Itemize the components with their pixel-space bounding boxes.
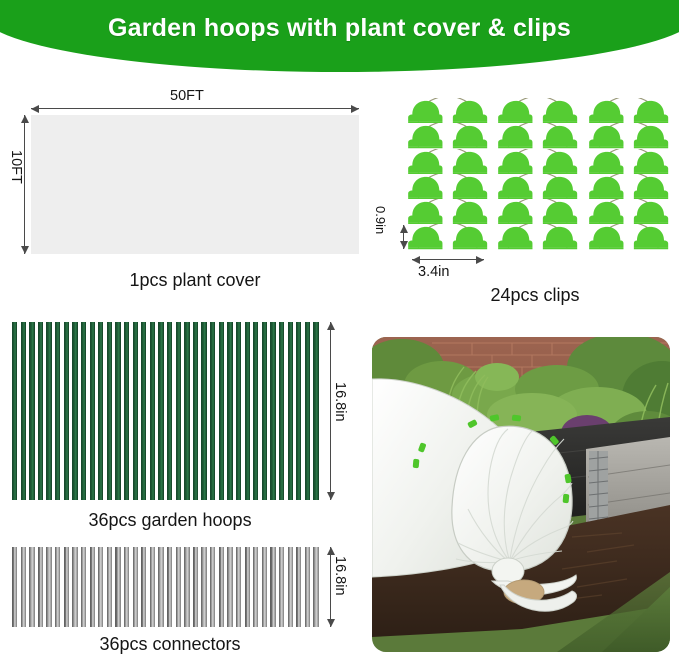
plant-cover-width-arrow-icon — [31, 104, 359, 113]
garden-hoop-rod — [253, 322, 258, 500]
header-banner: Garden hoops with plant cover & clips — [0, 0, 679, 72]
garden-hoop-rod — [150, 322, 155, 500]
product-photo — [372, 337, 670, 652]
connector-rod — [253, 547, 258, 627]
plant-cover-height-arrow-icon — [20, 115, 29, 254]
connector-rod — [219, 547, 224, 627]
garden-hoop-rod — [124, 322, 129, 500]
garden-hoop-rod — [38, 322, 43, 500]
garden-hoop-rod — [90, 322, 95, 500]
product-photo-scene — [372, 337, 670, 652]
connector-rod — [12, 547, 17, 627]
clips-caption: 24pcs clips — [400, 285, 670, 306]
clips-width-label: 3.4in — [418, 264, 449, 280]
connector-rod — [29, 547, 34, 627]
connector-rod — [279, 547, 284, 627]
connector-rod — [270, 547, 275, 627]
clip-item — [585, 224, 672, 249]
garden-hoop-rod — [167, 322, 172, 500]
garden-hoop-rod — [270, 322, 275, 500]
clip-item — [494, 149, 581, 174]
garden-hoop-rod — [29, 322, 34, 500]
connector-rod — [176, 547, 181, 627]
clip-item — [494, 174, 581, 199]
clip-item — [494, 199, 581, 224]
garden-hoop-rod — [184, 322, 189, 500]
connector-rod — [38, 547, 43, 627]
garden-hoop-rod — [55, 322, 60, 500]
clip-item — [585, 199, 672, 224]
garden-hoop-rod — [12, 322, 17, 500]
connectors-bundle — [12, 547, 322, 627]
clips-grid — [404, 98, 672, 250]
connector-rod — [21, 547, 26, 627]
connector-rod — [133, 547, 138, 627]
clip-item — [494, 123, 581, 148]
clip-item — [404, 199, 491, 224]
connector-rod — [107, 547, 112, 627]
garden-hoop-rod — [201, 322, 206, 500]
garden-hoop-rod — [107, 322, 112, 500]
plant-cover-swatch — [31, 115, 359, 254]
garden-hoops-length-label: 16.8in — [332, 382, 348, 422]
connector-rod — [167, 547, 172, 627]
connector-rod — [313, 547, 318, 627]
garden-hoop-rod — [245, 322, 250, 500]
clip-item — [494, 98, 581, 123]
clip-item — [585, 149, 672, 174]
connector-rod — [115, 547, 120, 627]
connector-rod — [296, 547, 301, 627]
connector-rod — [184, 547, 189, 627]
connector-rod — [72, 547, 77, 627]
clips-width-arrow-icon — [412, 255, 484, 264]
plant-cover-caption: 1pcs plant cover — [0, 270, 390, 291]
connector-rod — [210, 547, 215, 627]
connector-rod — [201, 547, 206, 627]
connectors-caption: 36pcs connectors — [0, 634, 340, 655]
garden-hoop-rod — [262, 322, 267, 500]
connector-rod — [90, 547, 95, 627]
connector-rod — [288, 547, 293, 627]
garden-hoop-rod — [296, 322, 301, 500]
garden-hoop-rod — [305, 322, 310, 500]
garden-hoop-rod — [72, 322, 77, 500]
connector-rod — [193, 547, 198, 627]
clip-item — [404, 224, 491, 249]
garden-hoops-bundle — [12, 322, 322, 500]
connector-rod — [236, 547, 241, 627]
clip-item — [585, 174, 672, 199]
connector-rod — [227, 547, 232, 627]
garden-hoop-rod — [227, 322, 232, 500]
connectors-length-label: 16.8in — [332, 556, 348, 596]
garden-hoop-rod — [64, 322, 69, 500]
garden-hoop-rod — [236, 322, 241, 500]
connector-rod — [81, 547, 86, 627]
connector-rod — [141, 547, 146, 627]
garden-hoop-rod — [313, 322, 318, 500]
garden-hoop-rod — [21, 322, 26, 500]
garden-hoop-rod — [288, 322, 293, 500]
garden-hoop-rod — [158, 322, 163, 500]
garden-hoop-rod — [210, 322, 215, 500]
garden-hoops-caption: 36pcs garden hoops — [0, 510, 340, 531]
page-title: Garden hoops with plant cover & clips — [0, 14, 679, 43]
connector-rod — [124, 547, 129, 627]
connector-rod — [158, 547, 163, 627]
clip-item — [404, 123, 491, 148]
connector-rod — [305, 547, 310, 627]
clip-item — [404, 149, 491, 174]
garden-hoop-rod — [279, 322, 284, 500]
garden-hoop-rod — [141, 322, 146, 500]
garden-hoop-rod — [193, 322, 198, 500]
connector-rod — [46, 547, 51, 627]
garden-hoop-rod — [115, 322, 120, 500]
connector-rod — [245, 547, 250, 627]
clip-item — [404, 98, 491, 123]
clips-height-arrow-icon — [399, 225, 408, 249]
garden-hoop-rod — [81, 322, 86, 500]
connector-rod — [262, 547, 267, 627]
clip-item — [585, 98, 672, 123]
clip-item — [404, 174, 491, 199]
clips-height-label: 0.9in — [373, 206, 388, 234]
garden-hoop-rod — [133, 322, 138, 500]
garden-hoop-rod — [46, 322, 51, 500]
garden-hoop-rod — [98, 322, 103, 500]
garden-hoop-rod — [176, 322, 181, 500]
clip-item — [494, 224, 581, 249]
plant-cover-width-label: 50FT — [170, 88, 204, 104]
infographic-root: Garden hoops with plant cover & clips 50… — [0, 0, 679, 664]
connector-rod — [55, 547, 60, 627]
connector-rod — [150, 547, 155, 627]
connector-rod — [98, 547, 103, 627]
connector-rod — [64, 547, 69, 627]
garden-hoop-rod — [219, 322, 224, 500]
clip-item — [585, 123, 672, 148]
